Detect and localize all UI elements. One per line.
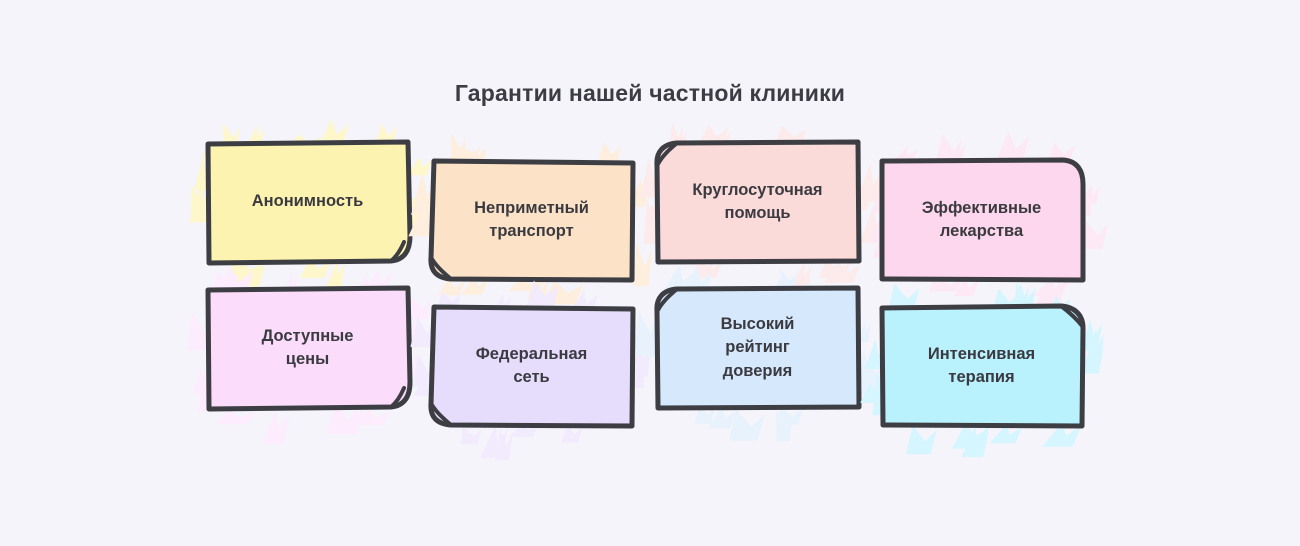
card-label: Интенсивная терапия: [879, 304, 1084, 428]
card-label: Доступные цены: [205, 286, 410, 410]
infographic-root: Гарантии нашей частной клиники Анонимнос…: [0, 0, 1300, 546]
card-anonimnost[interactable]: Анонимность: [205, 140, 410, 264]
card-intensivnaya-terapiya[interactable]: Интенсивная терапия: [879, 304, 1084, 428]
card-vysokiy-reyting-doveriya[interactable]: Высокий рейтинг доверия: [655, 286, 860, 410]
card-label: Федеральная сеть: [429, 304, 634, 428]
card-dostupnye-tseny[interactable]: Доступные цены: [205, 286, 410, 410]
card-federalnaya-set[interactable]: Федеральная сеть: [429, 304, 634, 428]
card-kruglosutochnaya-pomoshch[interactable]: Круглосуточная помощь: [655, 140, 860, 264]
page-title: Гарантии нашей частной клиники: [0, 80, 1300, 107]
card-label: Высокий рейтинг доверия: [655, 286, 860, 410]
card-label: Эффективные лекарства: [879, 158, 1084, 282]
card-label: Неприметный транспорт: [429, 158, 634, 282]
card-label: Анонимность: [205, 140, 410, 264]
card-effektivnye-lekarstva[interactable]: Эффективные лекарства: [879, 158, 1084, 282]
card-label: Круглосуточная помощь: [655, 140, 860, 264]
card-neprimetnyy-transport[interactable]: Неприметный транспорт: [429, 158, 634, 282]
guarantee-card-grid: АнонимностьНеприметный транспортКруглосу…: [205, 140, 1105, 430]
